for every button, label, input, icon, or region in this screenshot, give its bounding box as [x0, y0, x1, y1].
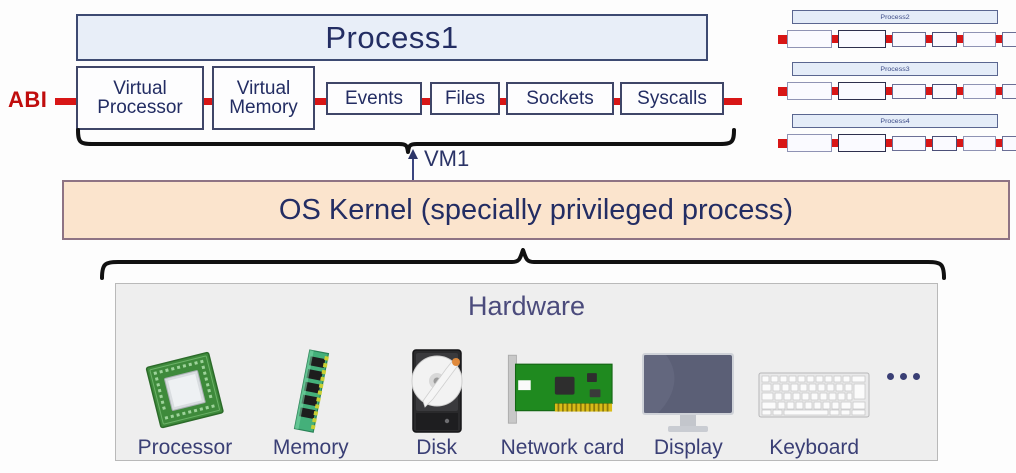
- hardware-item-network-card[interactable]: Network card: [503, 330, 621, 458]
- hardware-item-display[interactable]: Display: [629, 330, 747, 458]
- abi-box-virtual-memory-line2: Memory: [229, 98, 298, 117]
- network-card-icon: [503, 347, 621, 435]
- ellipsis-dot-2: [900, 373, 907, 380]
- process1-header: Process1: [76, 14, 708, 61]
- mini-box-syscalls: [1002, 32, 1016, 47]
- hardware-brace: [98, 248, 948, 280]
- hardware-title: Hardware: [116, 291, 937, 322]
- monitor-icon: [629, 347, 747, 435]
- os-kernel-bar: OS Kernel (specially privileged process): [62, 180, 1010, 240]
- abi-box-events-label: Events: [345, 89, 403, 108]
- hardware-item-disk[interactable]: Disk: [378, 330, 496, 458]
- vm1-label: VM1: [424, 146, 469, 172]
- hardware-item-processor[interactable]: Processor: [126, 330, 244, 458]
- mini-box-virtual-memory: [838, 134, 886, 152]
- mini-box-virtual-processor: [787, 30, 832, 48]
- abi-box-virtual-memory[interactable]: Virtual Memory: [212, 66, 315, 130]
- abi-box-sockets[interactable]: Sockets: [506, 82, 614, 115]
- mini-process-3-label: Process3: [880, 66, 909, 72]
- mini-box-virtual-memory: [838, 30, 886, 48]
- mini-box-sockets: [963, 136, 996, 151]
- mini-box-files: [932, 32, 957, 47]
- mini-process-4-header: Process4: [792, 114, 998, 128]
- abi-box-virtual-memory-line1: Virtual: [229, 79, 298, 98]
- keyboard-icon: [755, 347, 873, 435]
- hardware-item-keyboard-label: Keyboard: [769, 437, 859, 458]
- mini-connector: [778, 35, 787, 44]
- process1-title: Process1: [325, 22, 458, 53]
- hardware-more-ellipsis: [881, 330, 927, 458]
- hardware-item-processor-label: Processor: [138, 437, 233, 458]
- mini-process-4-label: Process4: [880, 118, 909, 124]
- ellipsis-dot-1: [887, 373, 894, 380]
- hardware-item-memory-label: Memory: [273, 437, 349, 458]
- mini-process-3-boxes: [778, 81, 1010, 101]
- abi-box-virtual-processor[interactable]: Virtual Processor: [76, 66, 204, 130]
- abi-box-events[interactable]: Events: [326, 82, 422, 115]
- os-kernel-label: OS Kernel (specially privileged process): [279, 194, 793, 227]
- mini-box-files: [932, 136, 957, 151]
- mini-box-events: [892, 136, 926, 151]
- mini-process-diagram-4[interactable]: Process4: [778, 114, 1010, 156]
- hardware-item-display-label: Display: [654, 437, 723, 458]
- mini-process-2-boxes: [778, 29, 1010, 49]
- abi-label: ABI: [8, 87, 47, 113]
- mini-box-virtual-memory: [838, 82, 886, 100]
- hardware-panel: Hardware: [115, 283, 938, 461]
- mini-box-files: [932, 84, 957, 99]
- mini-process-2-label: Process2: [880, 14, 909, 20]
- mini-connector: [778, 139, 787, 148]
- abi-box-files-label: Files: [445, 89, 485, 108]
- abi-box-syscalls-label: Syscalls: [637, 89, 707, 108]
- mini-box-sockets: [963, 32, 996, 47]
- mini-box-sockets: [963, 84, 996, 99]
- hardware-item-keyboard[interactable]: Keyboard: [755, 330, 873, 458]
- hardware-item-disk-label: Disk: [416, 437, 457, 458]
- ram-stick-icon: [252, 347, 370, 435]
- abi-box-virtual-processor-line2: Processor: [97, 98, 183, 117]
- cpu-chip-icon: [126, 347, 244, 435]
- mini-box-syscalls: [1002, 84, 1016, 99]
- ellipsis-dot-3: [913, 373, 920, 380]
- mini-box-virtual-processor: [787, 134, 832, 152]
- mini-box-events: [892, 32, 926, 47]
- mini-process-diagram-2[interactable]: Process2: [778, 10, 1010, 52]
- mini-process-diagram-3[interactable]: Process3: [778, 62, 1010, 104]
- mini-box-virtual-processor: [787, 82, 832, 100]
- mini-process-2-header: Process2: [792, 10, 998, 24]
- abi-box-files[interactable]: Files: [430, 82, 500, 115]
- hardware-item-memory[interactable]: Memory: [252, 330, 370, 458]
- diagram-canvas: Process1 ABI Virtual Processor Virtual M…: [0, 0, 1016, 473]
- mini-connector: [778, 87, 787, 96]
- mini-process-3-header: Process3: [792, 62, 998, 76]
- hardware-device-list: Processor: [122, 330, 931, 458]
- abi-box-virtual-processor-line1: Virtual: [97, 79, 183, 98]
- mini-process-4-boxes: [778, 133, 1010, 153]
- hard-disk-icon: [378, 347, 496, 435]
- abi-box-syscalls[interactable]: Syscalls: [620, 82, 724, 115]
- hardware-item-network-card-label: Network card: [501, 437, 625, 458]
- abi-box-sockets-label: Sockets: [526, 89, 594, 108]
- mini-box-events: [892, 84, 926, 99]
- mini-box-syscalls: [1002, 136, 1016, 151]
